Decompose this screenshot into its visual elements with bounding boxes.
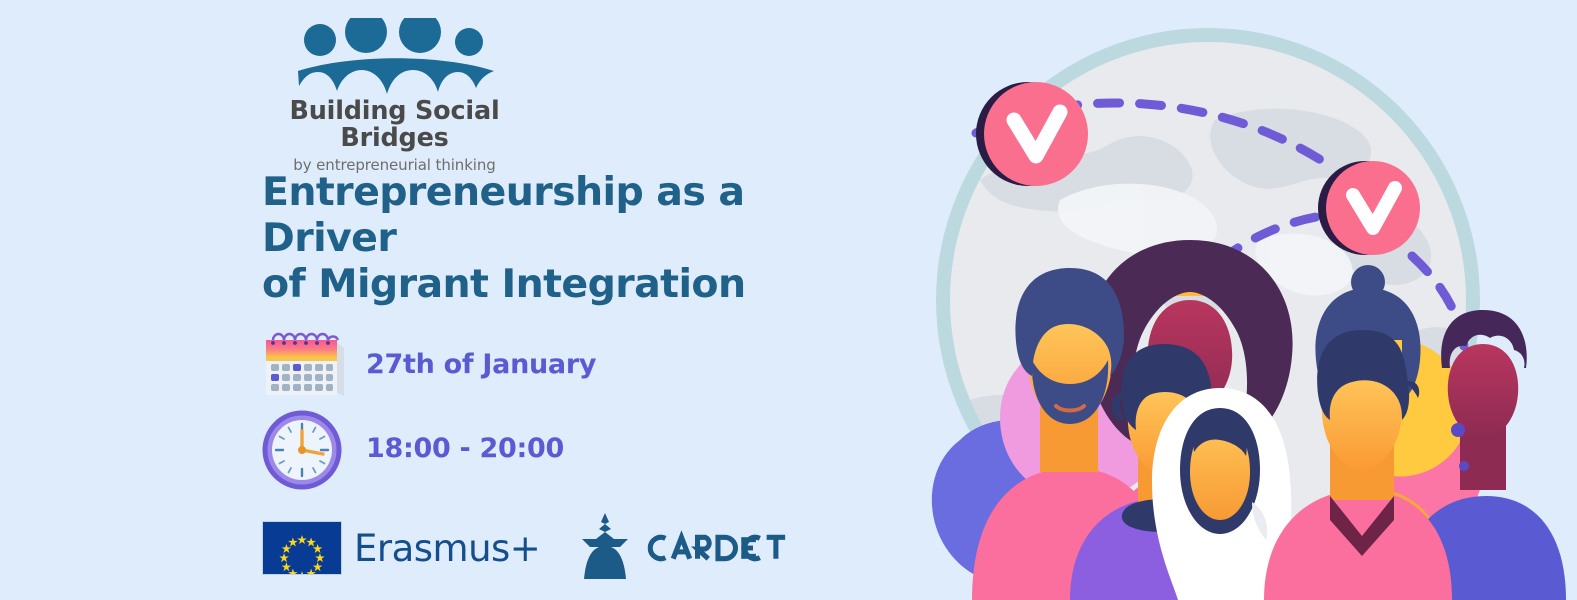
event-title-line-2: of Migrant Integration: [262, 261, 745, 307]
globe-with-diverse-people-illustration: [860, 0, 1577, 600]
clock-icon: [258, 406, 350, 490]
brand-logo: Building Social Bridges by entrepreneuri…: [262, 18, 532, 174]
event-banner: Building Social Bridges by entrepreneuri…: [0, 0, 1577, 600]
event-date-row: 27th of January: [258, 322, 596, 406]
eu-flag-icon: [262, 521, 342, 575]
brand-name: Building Social Bridges: [262, 98, 527, 152]
event-title-line-1: Entrepreneurship as a Driver: [262, 169, 744, 261]
event-time-label: 18:00 - 20:00: [366, 433, 564, 464]
event-details-list: 27th of January: [258, 322, 596, 490]
cardet-bell-tower-icon: [574, 513, 636, 583]
event-date-label: 27th of January: [366, 349, 596, 380]
erasmus-plus-label: Erasmus+: [354, 530, 540, 567]
bridge-with-people-icon: [296, 18, 496, 96]
check-badge-icon-2: [1318, 161, 1420, 255]
event-title: Entrepreneurship as a Driver of Migrant …: [262, 170, 842, 307]
cardet-logo: [574, 513, 790, 583]
calendar-icon-wrap: [258, 326, 350, 402]
erasmus-plus-logo: Erasmus+: [262, 521, 540, 575]
event-time-row: 18:00 - 20:00: [258, 406, 596, 490]
check-badge-icon-1: [976, 82, 1088, 186]
left-content-panel: Building Social Bridges by entrepreneuri…: [0, 0, 870, 600]
clock-icon-wrap: [258, 406, 350, 490]
footer-logos: Erasmus+: [262, 513, 790, 583]
cardet-wordmark: [644, 528, 790, 568]
calendar-icon: [258, 326, 350, 402]
